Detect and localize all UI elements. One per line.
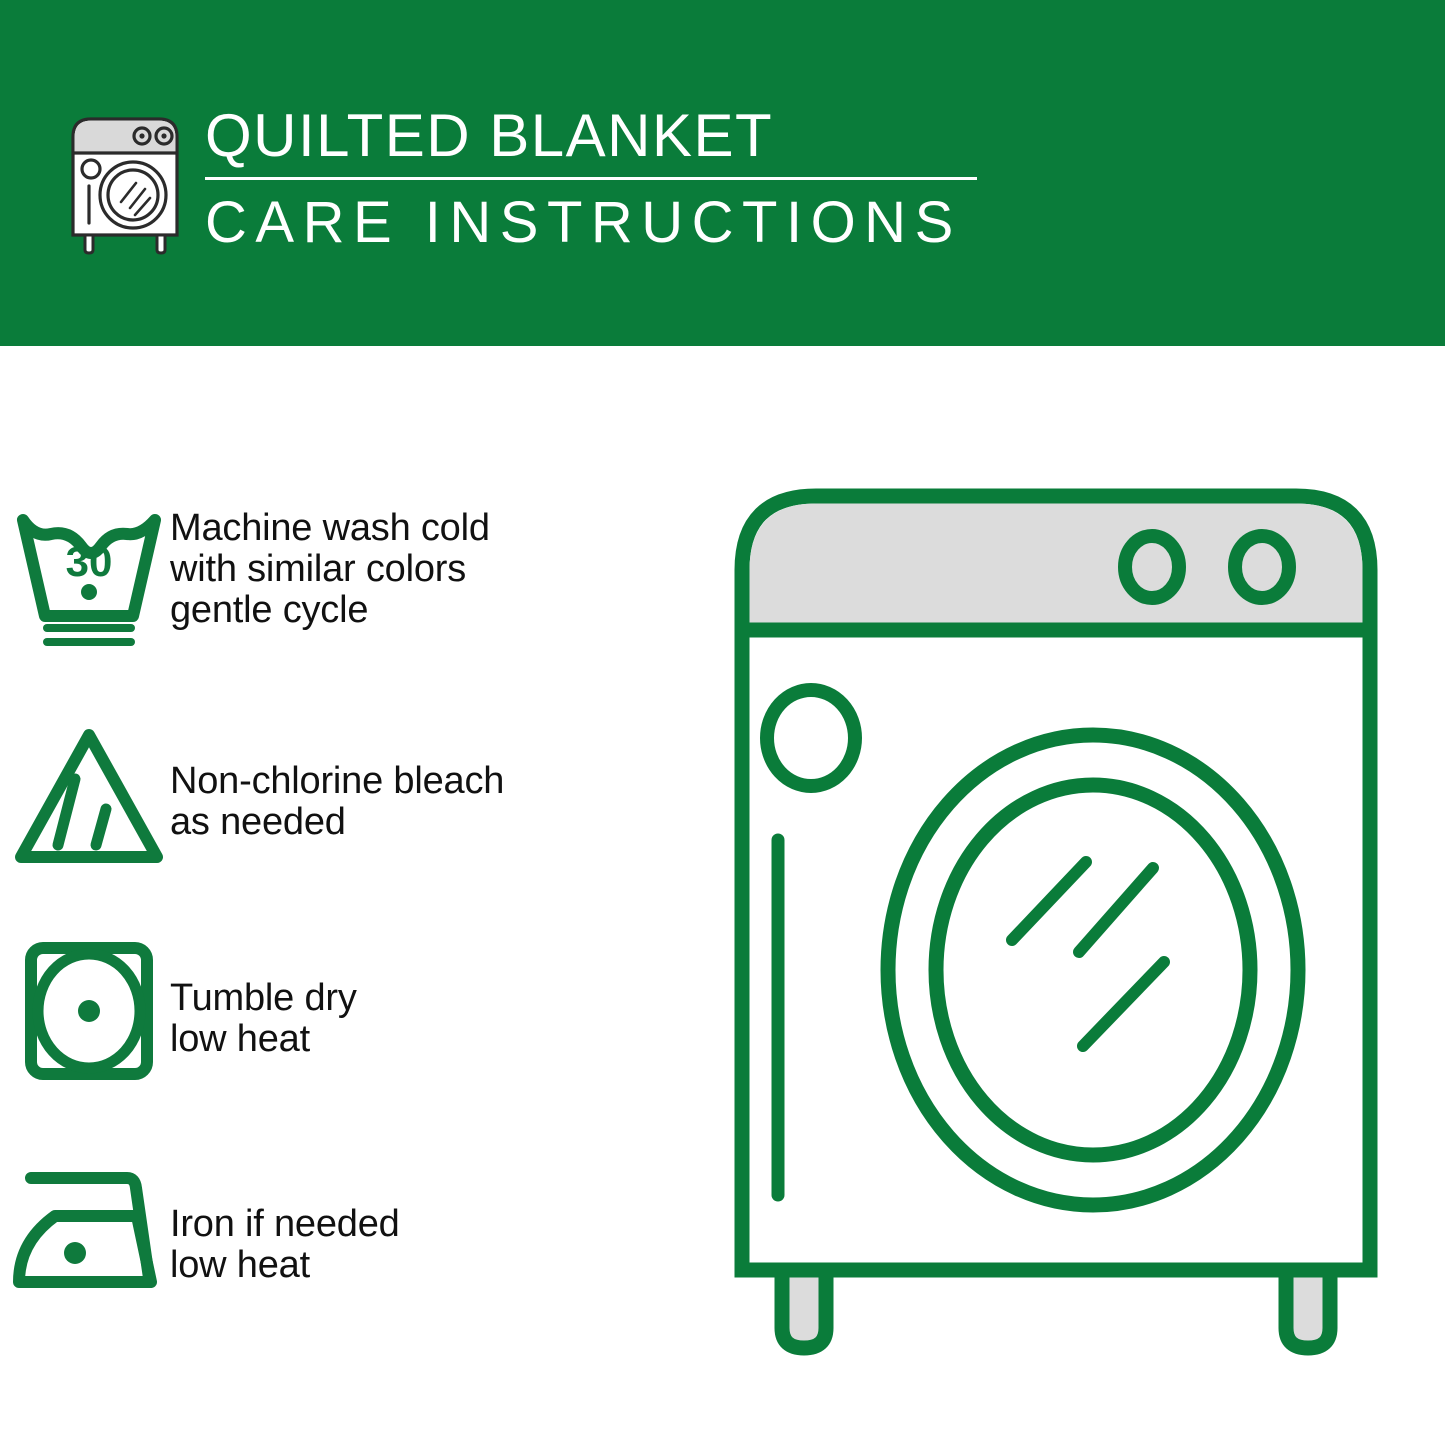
care-row-iron: Iron if needed low heat bbox=[0, 1156, 700, 1306]
header-title-block: QUILTED BLANKET CARE INSTRUCTIONS bbox=[205, 104, 995, 254]
care-text-machine-wash: Machine wash cold with similar colors ge… bbox=[170, 498, 700, 631]
care-text-tumble-dry: Tumble dry low heat bbox=[170, 936, 700, 1060]
leg-left bbox=[782, 1270, 826, 1348]
care-text-bleach: Non-chlorine bleach as needed bbox=[170, 721, 700, 843]
care-text-iron: Iron if needed low heat bbox=[170, 1156, 700, 1286]
bleach-triangle-icon bbox=[0, 721, 170, 871]
page-subtitle: CARE INSTRUCTIONS bbox=[205, 192, 995, 254]
control-knob-left bbox=[1125, 536, 1179, 598]
washing-machine-icon bbox=[63, 103, 187, 255]
detergent-dispenser bbox=[767, 690, 855, 786]
page-title: QUILTED BLANKET bbox=[205, 104, 995, 168]
leg-right bbox=[1286, 1270, 1330, 1348]
care-row-bleach: Non-chlorine bleach as needed bbox=[0, 721, 700, 871]
care-row-machine-wash: 30 Machine wash cold with similar colors… bbox=[0, 498, 700, 648]
tumble-dry-icon bbox=[0, 936, 170, 1086]
care-row-tumble-dry: Tumble dry low heat bbox=[0, 936, 700, 1086]
control-knob-right bbox=[1235, 536, 1289, 598]
drum-door-inner bbox=[936, 785, 1250, 1155]
care-instructions-page: QUILTED BLANKET CARE INSTRUCTIONS 30 bbox=[0, 0, 1445, 1445]
wash-tub-30-icon: 30 bbox=[0, 498, 170, 648]
iron-icon bbox=[0, 1156, 170, 1306]
wash-temperature-label: 30 bbox=[66, 538, 113, 585]
title-divider bbox=[205, 177, 977, 180]
page-header: QUILTED BLANKET CARE INSTRUCTIONS bbox=[0, 0, 1445, 346]
care-instruction-list: 30 Machine wash cold with similar colors… bbox=[0, 346, 700, 1445]
front-load-washing-machine-illustration bbox=[716, 470, 1396, 1370]
